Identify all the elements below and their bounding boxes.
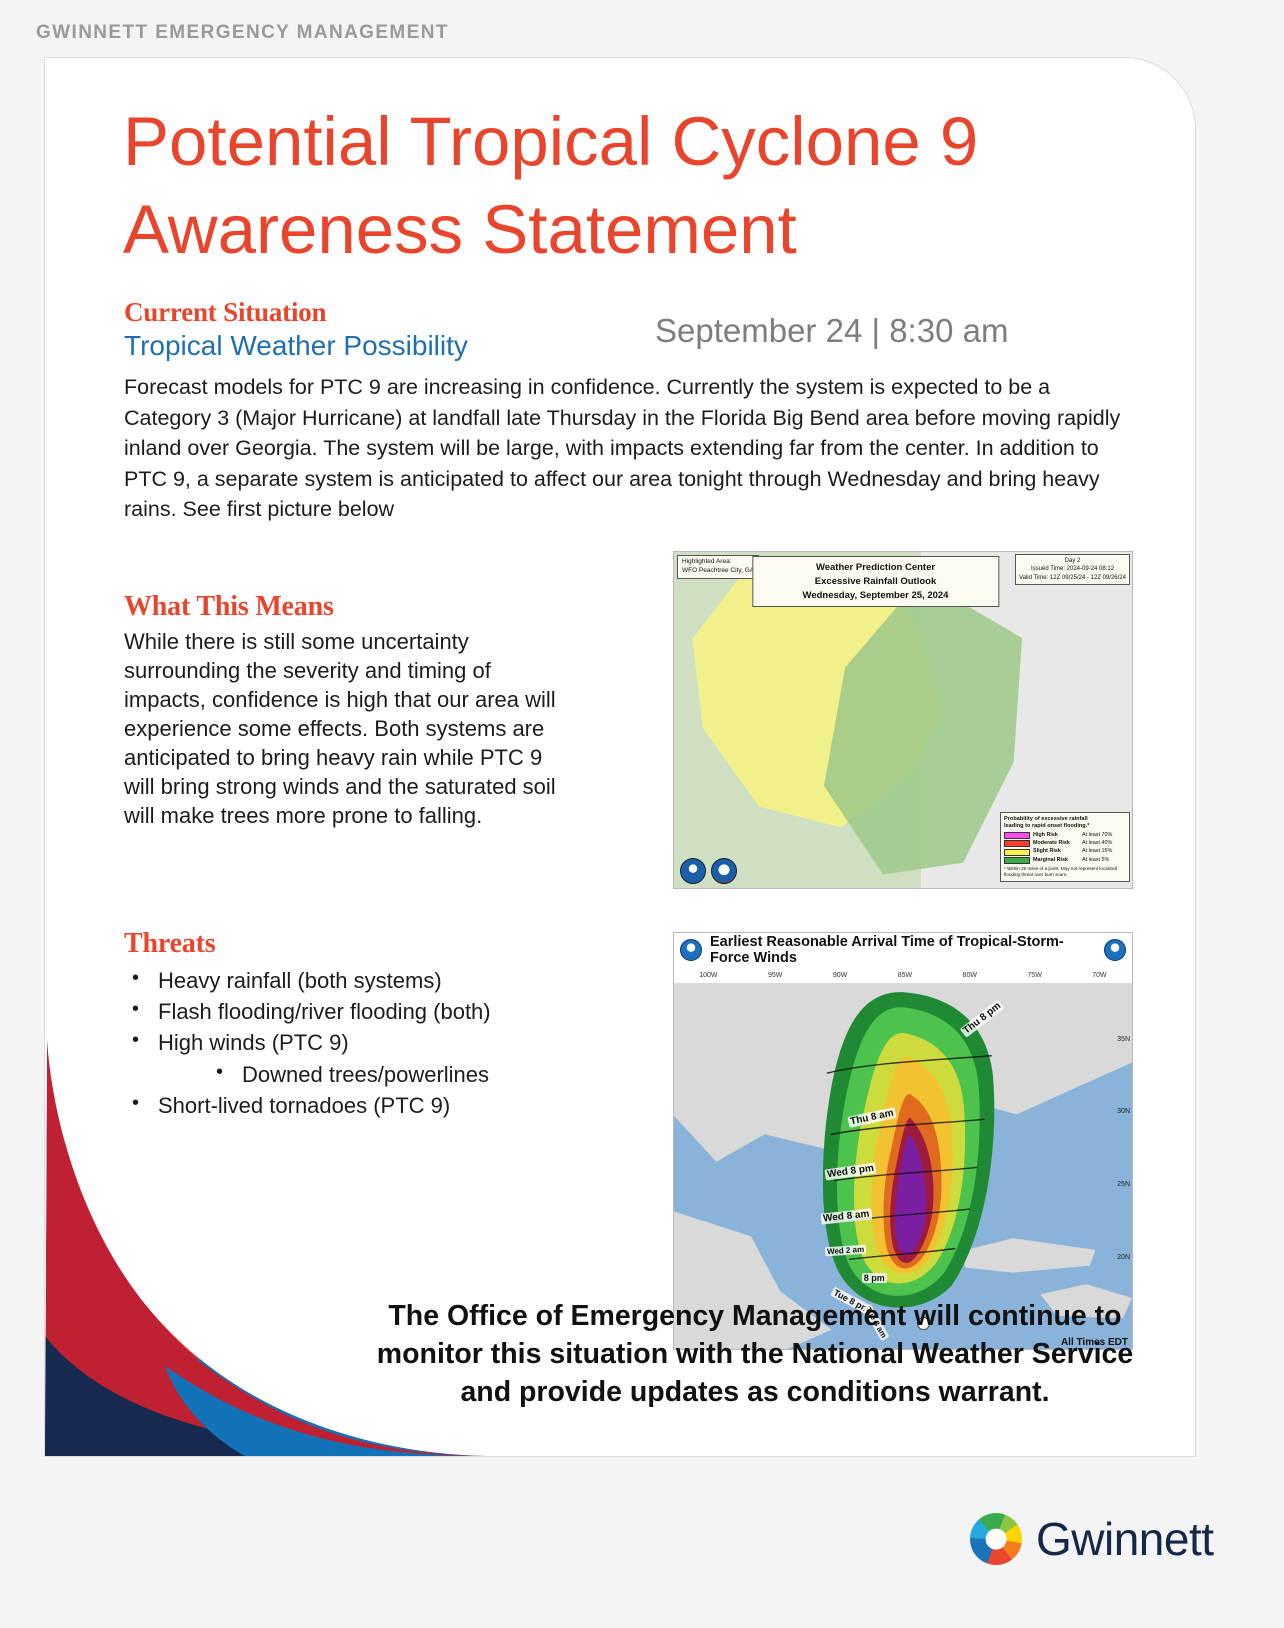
threats-block: Threats Heavy rainfall (both systems)Fla… xyxy=(124,928,644,1121)
longitude-tick-bar: 100W95W90W85W80W75W70W xyxy=(674,967,1132,983)
highlighted-area-callout: Highlighted Area: WFO Peachtree City, GA xyxy=(677,555,759,579)
map-title-line-2: Excessive Rainfall Outlook xyxy=(755,575,996,589)
longitude-tick: 85W xyxy=(898,972,912,979)
noaa-seal-icon xyxy=(680,858,706,884)
national-weather-service-seal-icon xyxy=(711,858,737,884)
issued-time: Issued Time: 2024-09-24 08:12 xyxy=(1019,565,1126,573)
wind-arrival-swath xyxy=(816,990,999,1319)
legend-risk-name: Marginal Risk xyxy=(1033,857,1079,864)
longitude-tick: 100W xyxy=(699,972,717,979)
brand-name: Gwinnett xyxy=(1036,1512,1214,1566)
legend-color-swatch xyxy=(1004,832,1030,839)
what-this-means-paragraph: While there is still some uncertainty su… xyxy=(124,627,576,830)
map-day-box: Day 2 Issued Time: 2024-09-24 08:12 Vali… xyxy=(1015,554,1130,585)
legend-risk-name: Slight Risk xyxy=(1033,848,1079,855)
legend-color-swatch xyxy=(1004,840,1030,847)
longitude-tick: 80W xyxy=(963,972,977,979)
legend-row: High RiskAt least 70% xyxy=(1004,832,1126,839)
map-legend: Probability of excessive rainfall leadin… xyxy=(1000,812,1130,882)
threat-item: High winds (PTC 9) xyxy=(124,1027,644,1058)
legend-title-line-2: leading to rapid onset flooding.* xyxy=(1004,823,1126,831)
current-situation-subheading: Tropical Weather Possibility xyxy=(124,330,624,362)
legend-row: Slight RiskAt least 15% xyxy=(1004,848,1126,855)
ts-wind-map-header: Earliest Reasonable Arrival Time of Trop… xyxy=(674,933,1132,967)
content-card: Potential Tropical Cyclone 9 Awareness S… xyxy=(44,57,1196,1457)
map-title-box: Weather Prediction Center Excessive Rain… xyxy=(752,556,999,607)
ts-wind-arrival-map[interactable]: Earliest Reasonable Arrival Time of Trop… xyxy=(673,932,1133,1350)
gwinnett-circle-logo-icon xyxy=(970,1513,1022,1565)
legend-risk-name: Moderate Risk xyxy=(1033,840,1079,847)
threat-item: Downed trees/powerlines xyxy=(124,1059,644,1090)
legend-risk-value: At least 40% xyxy=(1082,840,1126,847)
threat-item: Flash flooding/river flooding (both) xyxy=(124,996,644,1027)
ts-wind-map-canvas: 100W95W90W85W80W75W70W xyxy=(674,967,1132,1349)
legend-risk-value: At least 70% xyxy=(1082,832,1126,839)
highlighted-area-label: Highlighted Area: xyxy=(682,558,754,567)
ts-wind-map-title: Earliest Reasonable Arrival Time of Trop… xyxy=(710,934,1096,966)
valid-time: Valid Time: 12Z 09/25/24 - 12Z 09/26/24 xyxy=(1019,574,1126,582)
legend-risk-value: At least 5% xyxy=(1082,857,1126,864)
what-this-means-heading: What This Means xyxy=(124,591,576,623)
what-this-means-block: What This Means While there is still som… xyxy=(124,591,576,830)
map-title-line-1: Weather Prediction Center xyxy=(755,561,996,575)
legend-row: Marginal RiskAt least 5% xyxy=(1004,857,1126,864)
threat-item: Heavy rainfall (both systems) xyxy=(124,965,644,996)
highlighted-area-value: WFO Peachtree City, GA xyxy=(682,567,754,576)
page-title: Potential Tropical Cyclone 9 Awareness S… xyxy=(123,98,1133,275)
latitude-tick: 25N xyxy=(1117,1181,1130,1188)
excessive-rainfall-outlook-map[interactable]: Highlighted Area: WFO Peachtree City, GA… xyxy=(673,551,1133,889)
map-title-line-3: Wednesday, September 25, 2024 xyxy=(755,589,996,603)
legend-title-line-1: Probability of excessive rainfall xyxy=(1004,816,1126,824)
latitude-tick: 30N xyxy=(1117,1108,1130,1115)
current-situation-paragraph: Forecast models for PTC 9 are increasing… xyxy=(124,372,1134,525)
current-situation-heading: Current Situation xyxy=(124,297,624,328)
noaa-seal-icon xyxy=(680,939,702,961)
legend-note: * Within 25 miles of a point. May not re… xyxy=(1004,866,1126,878)
threats-heading: Threats xyxy=(124,928,644,960)
brand-lockup: Gwinnett xyxy=(970,1512,1214,1566)
statement-timestamp: September 24 | 8:30 am xyxy=(655,312,1008,350)
longitude-tick: 90W xyxy=(833,972,847,979)
legend-color-swatch xyxy=(1004,857,1030,864)
legend-risk-name: High Risk xyxy=(1033,832,1079,839)
latitude-tick: 20N xyxy=(1117,1254,1130,1261)
threat-item: Short-lived tornadoes (PTC 9) xyxy=(124,1090,644,1121)
agency-seals xyxy=(680,858,737,884)
current-situation-block: Current Situation Tropical Weather Possi… xyxy=(124,297,624,362)
national-weather-service-seal-icon xyxy=(1104,939,1126,961)
latitude-tick: 35N xyxy=(1117,1036,1130,1043)
threats-list: Heavy rainfall (both systems)Flash flood… xyxy=(124,965,644,1121)
longitude-tick: 70W xyxy=(1092,972,1106,979)
legend-color-swatch xyxy=(1004,849,1030,856)
legend-row: Moderate RiskAt least 40% xyxy=(1004,840,1126,847)
time-label-8pm: 8 pm xyxy=(862,1273,887,1283)
flyer-page: GWINNETT EMERGENCY MANAGEMENT Potential … xyxy=(0,0,1284,1628)
longitude-tick: 75W xyxy=(1027,972,1041,979)
legend-risk-value: At least 15% xyxy=(1082,848,1126,855)
legend-rows: High RiskAt least 70%Moderate RiskAt lea… xyxy=(1004,832,1126,864)
longitude-tick: 95W xyxy=(768,972,782,979)
footer-statement: The Office of Emergency Management will … xyxy=(375,1298,1135,1412)
organization-kicker: GWINNETT EMERGENCY MANAGEMENT xyxy=(36,22,449,44)
day-label: Day 2 xyxy=(1019,557,1126,565)
